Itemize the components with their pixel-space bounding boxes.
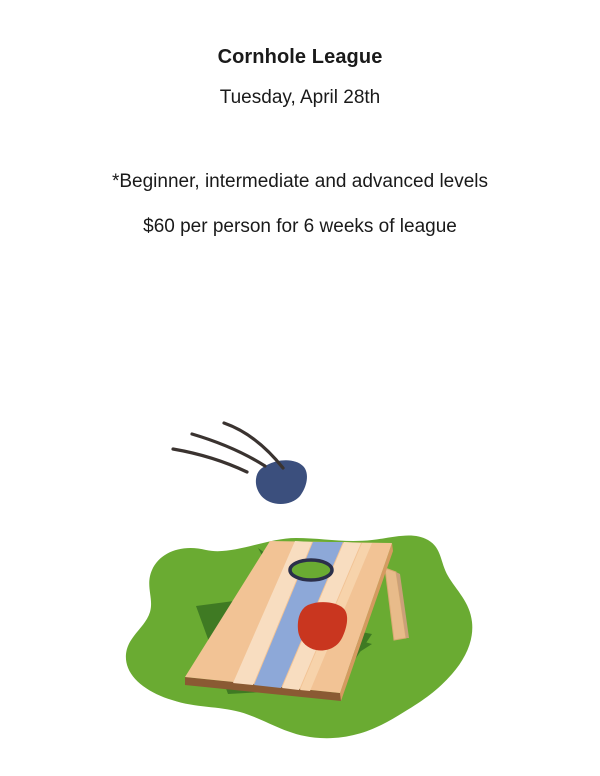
motion-arc-bottom [173,449,247,472]
detail-levels: *Beginner, intermediate and advanced lev… [0,170,600,194]
page-title: Cornhole League [0,0,600,70]
event-details-list: *Beginner, intermediate and advanced lev… [0,170,600,239]
flyer-text-block: Cornhole League Tuesday, April 28th [0,0,600,110]
board-hole [290,560,332,580]
flyer-page: Cornhole League Tuesday, April 28th *Beg… [0,0,600,776]
detail-price: $60 per person for 6 weeks of league [0,215,600,239]
event-date: Tuesday, April 28th [0,70,600,110]
cornhole-board-illustration [0,400,600,760]
motion-arcs [173,423,283,472]
cornhole-illustration [0,400,600,760]
motion-arc-top [224,423,283,468]
